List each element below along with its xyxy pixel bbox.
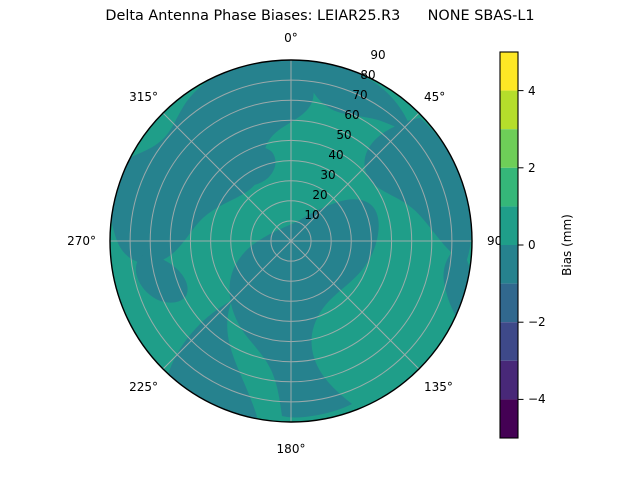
colorbar-tick-4: 4 [528, 84, 536, 98]
figure-canvas: Delta Antenna Phase Biases: LEIAR25.R3 N… [0, 0, 640, 480]
polar-grid [110, 60, 472, 422]
radial-tick-90: 90 [370, 48, 385, 62]
angular-tick-270: 270° [67, 234, 96, 248]
angular-tick-0: 0° [284, 31, 298, 45]
colorbar-band-2 [500, 322, 518, 361]
colorbar-band-5 [500, 206, 518, 245]
colorbar-tick-2: 2 [528, 161, 536, 175]
angular-tick-225: 225° [129, 380, 158, 394]
colorbar-band-4 [500, 245, 518, 284]
page-title: Delta Antenna Phase Biases: LEIAR25.R3 N… [0, 8, 640, 24]
radial-tick-40: 40 [328, 148, 343, 162]
radial-tick-80: 80 [360, 68, 375, 82]
colorbar-band-8 [500, 91, 518, 130]
radial-tick-20: 20 [312, 188, 327, 202]
radial-tick-70: 70 [352, 88, 367, 102]
radial-tick-50: 50 [336, 128, 351, 142]
colorbar-axis-label: Bias (mm) [560, 214, 574, 276]
colorbar-tick-0: 0 [528, 238, 536, 252]
angular-tick-180: 180° [277, 442, 306, 456]
matplotlib-figure: 0° 45° 90 135° 180° 225° 270° 315° 10 20… [0, 0, 640, 480]
colorbar-tick-neg4: −4 [528, 392, 546, 406]
colorbar-band-7 [500, 129, 518, 168]
radial-tick-60: 60 [344, 108, 359, 122]
radial-tick-10: 10 [304, 208, 319, 222]
radial-tick-30: 30 [320, 168, 335, 182]
angular-tick-45: 45° [424, 90, 445, 104]
colorbar-band-9 [500, 52, 518, 91]
colorbar-band-1 [500, 361, 518, 400]
colorbar-ticks [518, 91, 524, 400]
colorbar-tick-neg2: −2 [528, 315, 546, 329]
colorbar-tick-labels: 4 2 0 −2 −4 [528, 84, 546, 406]
angular-tick-315: 315° [129, 90, 158, 104]
colorbar-band-6 [500, 168, 518, 207]
colorbar-band-3 [500, 284, 518, 323]
colorbar-band-0 [500, 399, 518, 438]
angular-tick-135: 135° [424, 380, 453, 394]
colorbar[interactable]: 4 2 0 −2 −4 Bias (mm) [500, 52, 574, 438]
